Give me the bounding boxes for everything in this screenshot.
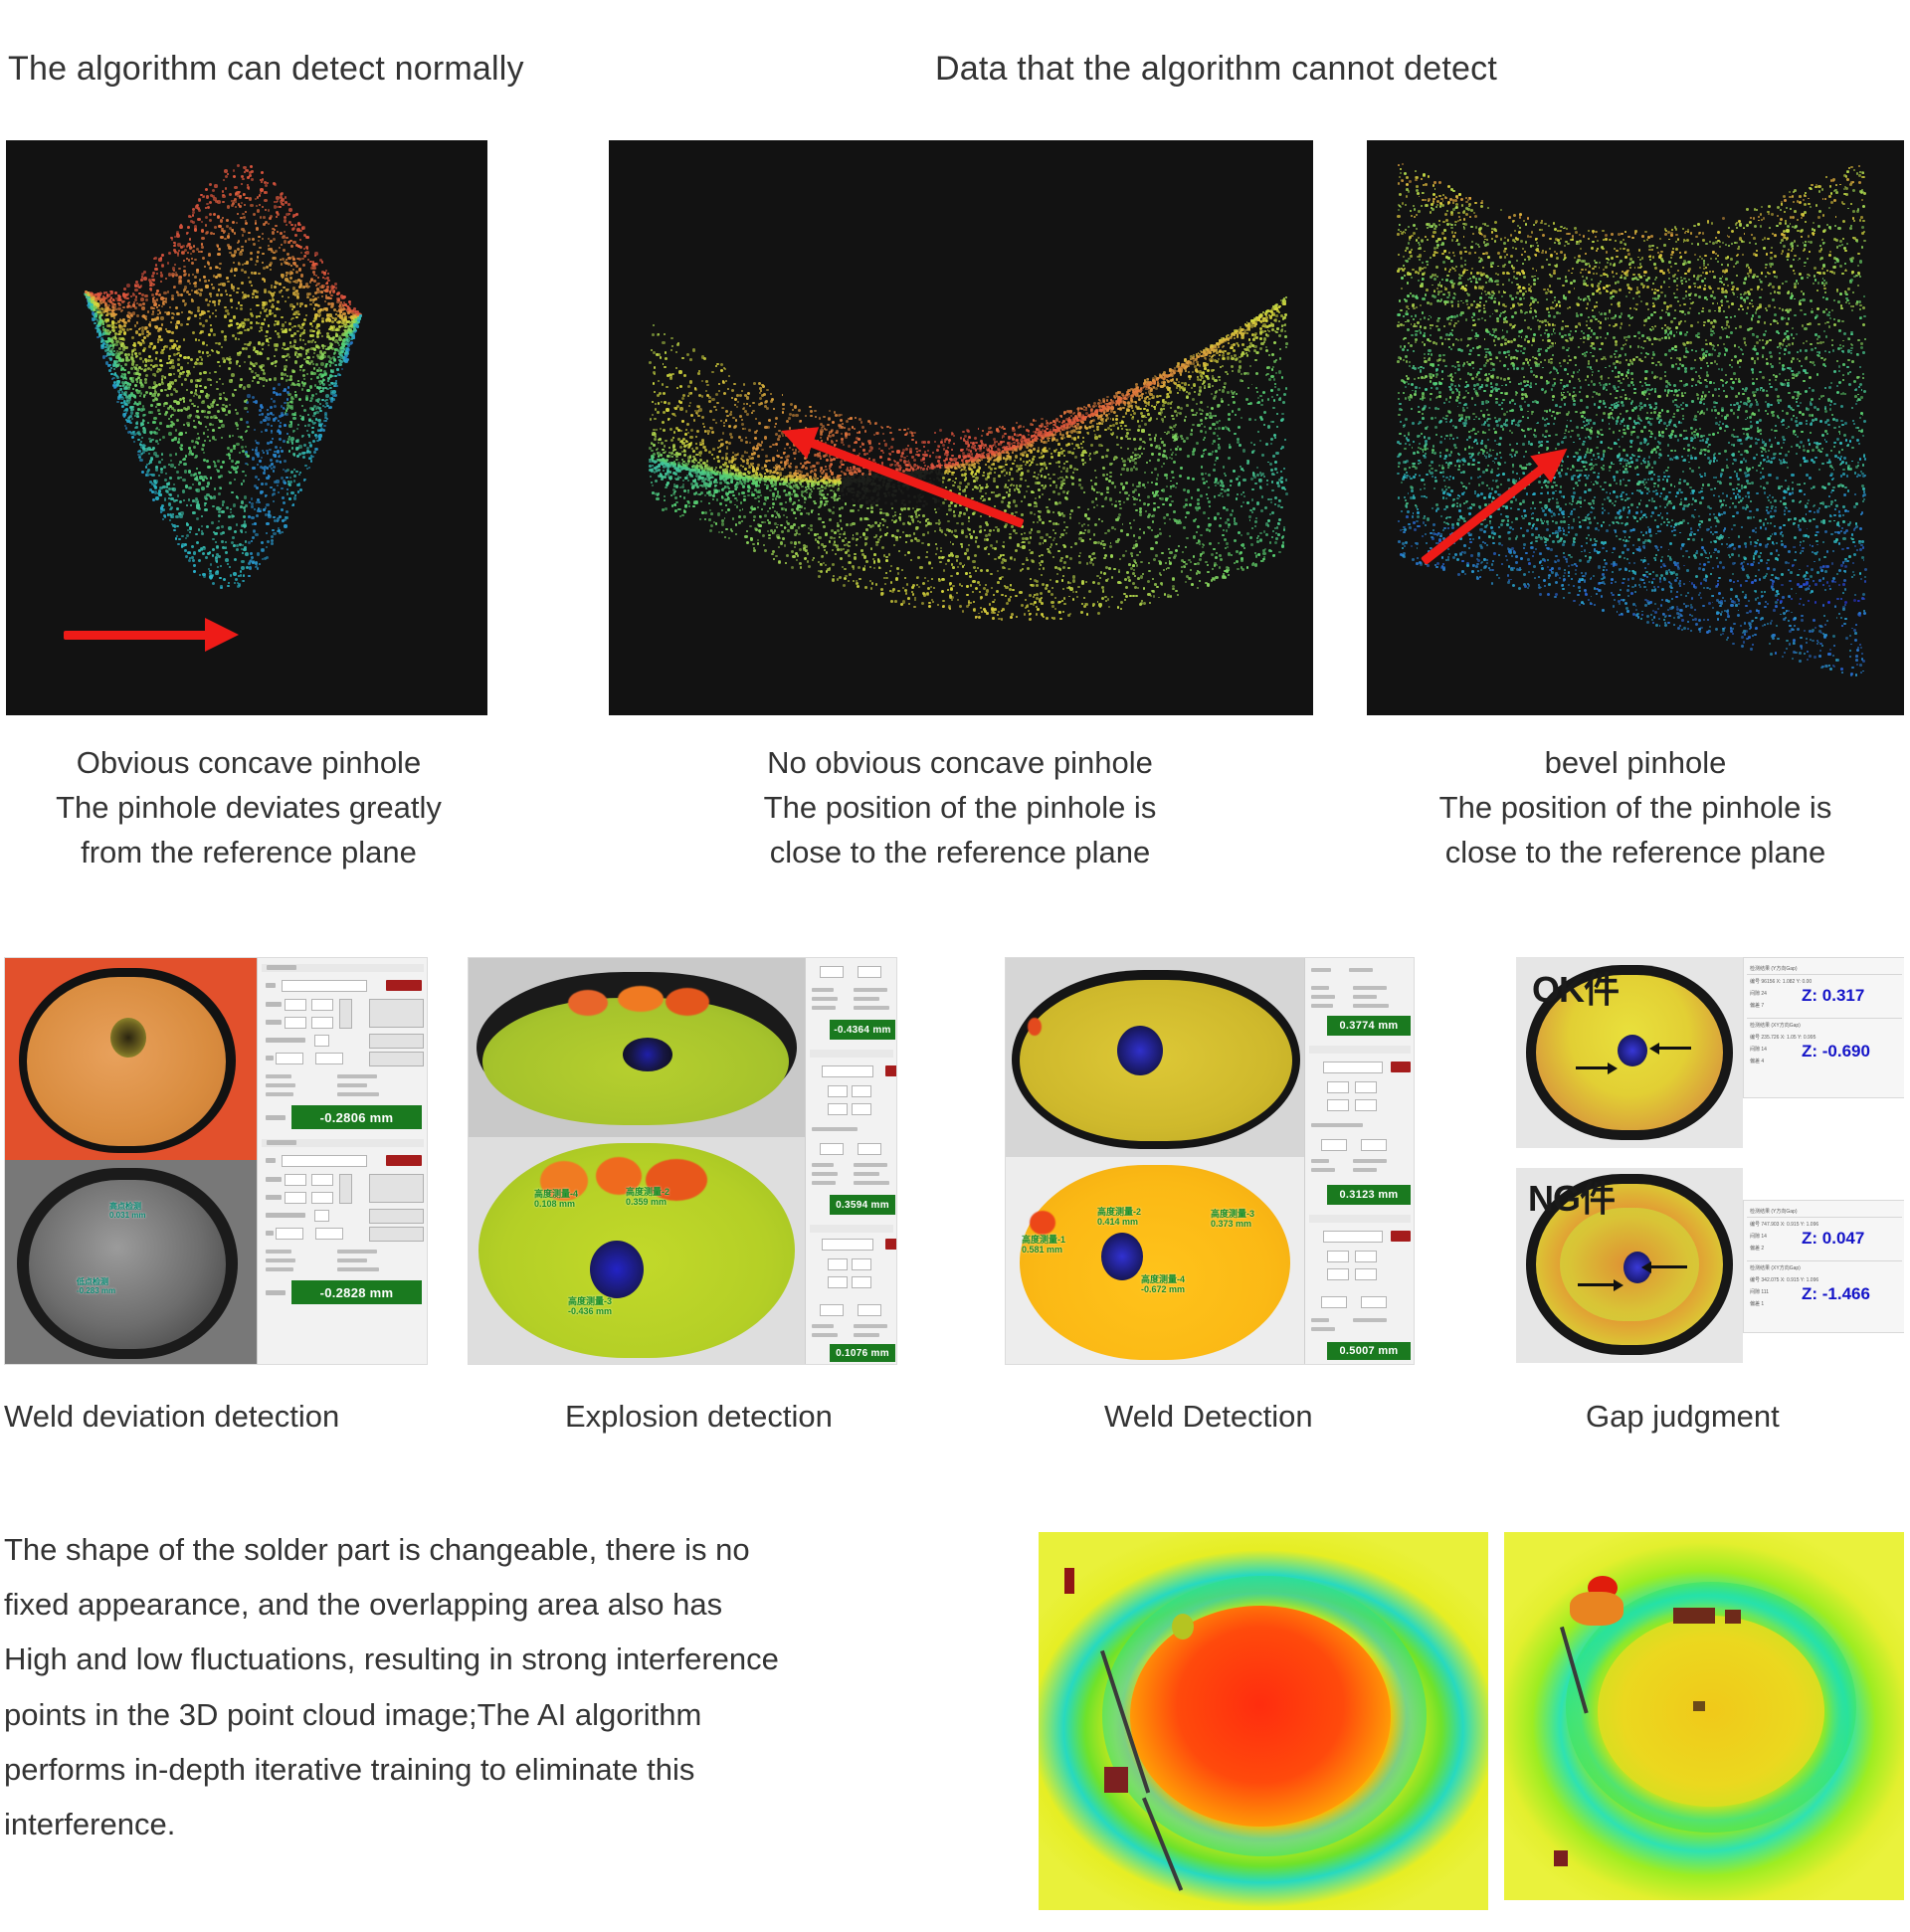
action-button-measure[interactable] — [369, 999, 424, 1028]
weld-grayscale-photo: 高点检测0.031 mm 低点检测-0.283 mm — [5, 1160, 257, 1364]
gap-result-label-ok: OK件 — [1532, 961, 1619, 1013]
status-badge-ng[interactable] — [885, 1065, 897, 1076]
coord-input[interactable] — [852, 1103, 871, 1115]
coord-input[interactable] — [852, 1085, 871, 1097]
coord-input[interactable] — [852, 1276, 871, 1288]
small-toggle-button[interactable] — [339, 999, 352, 1029]
coord-input[interactable] — [1327, 1268, 1349, 1280]
coord-input[interactable] — [828, 1276, 848, 1288]
overlay-measure-label: 高度测量-3-0.436 mm — [568, 1296, 612, 1317]
paragraph-line: performs in-depth iterative training to … — [4, 1742, 1009, 1797]
coord-x2-input[interactable] — [285, 1017, 306, 1029]
paragraph-line: interference. — [4, 1797, 1009, 1851]
software-side-panel-1: -0.2806 mm — [257, 958, 428, 1364]
coord-y2-input[interactable] — [311, 1017, 333, 1029]
caption-line: The position of the pinhole is — [582, 786, 1338, 831]
text-input[interactable] — [1323, 1062, 1383, 1073]
status-badge-ng[interactable] — [1391, 1062, 1411, 1072]
coord-y2-input[interactable] — [311, 1192, 333, 1204]
coord-x2-input[interactable] — [285, 1192, 306, 1204]
status-badge-ng[interactable] — [885, 1239, 897, 1250]
caption-line: from the reference plane — [0, 831, 497, 875]
coord-input[interactable] — [1355, 1251, 1377, 1262]
software-side-panel-2: -0.4364 mm 0.3594 mm — [805, 958, 897, 1364]
measurement-value: -0.4364 mm — [830, 1020, 895, 1040]
gap-judgment-ok-image: OK件 — [1516, 957, 1743, 1148]
measurement-value: 0.3123 mm — [1327, 1185, 1411, 1205]
overlay-measure-label: 低点检测-0.283 mm — [77, 1277, 115, 1295]
paragraph-line: points in the 3D point cloud image;The A… — [4, 1687, 1009, 1742]
measurement-value: 0.3774 mm — [1327, 1016, 1411, 1036]
z-value-ok-1: Z: 0.317 — [1802, 986, 1864, 1006]
status-badge-ng[interactable] — [1391, 1231, 1411, 1242]
z-value-ng-1: Z: 0.047 — [1802, 1229, 1864, 1249]
percent-input[interactable] — [314, 1210, 329, 1222]
action-button-config[interactable] — [369, 1034, 424, 1049]
percent-input[interactable] — [314, 1035, 329, 1047]
action-button-config[interactable] — [369, 1209, 424, 1224]
overlay-measure-label: 高度测量-40.108 mm — [534, 1189, 578, 1210]
bottom-paragraph: The shape of the solder part is changeab… — [4, 1522, 1009, 1851]
param-input[interactable] — [820, 1304, 844, 1316]
z-value-ok-2: Z: -0.690 — [1802, 1042, 1870, 1062]
overlay-measure-label: 高度测量-4-0.672 mm — [1141, 1274, 1185, 1295]
param-input[interactable] — [1321, 1296, 1347, 1308]
caption-line: close to the reference plane — [1363, 831, 1908, 875]
coord-input[interactable] — [852, 1258, 871, 1270]
gap-ng-readout-panel: 检测结果 (Y方向Gap) 编号 747.903 X: 0.915 Y: 1.0… — [1743, 1200, 1904, 1333]
text-input[interactable] — [1323, 1231, 1383, 1243]
action-button-save[interactable] — [369, 1052, 424, 1066]
coord-y-input[interactable] — [311, 1174, 333, 1186]
heatmap-solder-ring-red-center — [1039, 1532, 1488, 1910]
pointcloud-image-no-obvious-concave-pinhole — [609, 140, 1313, 715]
explosion-3d-render — [469, 958, 805, 1137]
weld-color-photo — [5, 958, 257, 1160]
param-input[interactable] — [1361, 1296, 1387, 1308]
param2-input[interactable] — [315, 1053, 343, 1064]
text-input[interactable] — [282, 980, 367, 992]
text-input[interactable] — [822, 1065, 873, 1077]
caption-weld-deviation-detection: Weld deviation detection — [4, 1399, 339, 1435]
param2-input[interactable] — [315, 1228, 343, 1240]
coord-input[interactable] — [828, 1085, 848, 1097]
caption-line: bevel pinhole — [1363, 741, 1908, 786]
header-left: The algorithm can detect normally — [8, 50, 524, 89]
coord-input[interactable] — [828, 1258, 848, 1270]
weld-heightmap: 高度测量-20.414 mm 高度测量-10.581 mm 高度测量-30.37… — [1006, 1157, 1304, 1364]
paragraph-line: High and low fluctuations, resulting in … — [4, 1632, 1009, 1686]
caption-pointcloud-2: No obvious concave pinhole The position … — [582, 741, 1338, 875]
caption-gap-judgment: Gap judgment — [1586, 1399, 1780, 1435]
param-input[interactable] — [820, 966, 844, 978]
status-badge-ng[interactable] — [386, 1155, 422, 1166]
app-screenshot-weld-deviation-detection: 高点检测0.031 mm 低点检测-0.283 mm — [4, 957, 428, 1365]
overlay-measure-label: 高度测量-20.359 mm — [626, 1187, 669, 1208]
coord-input[interactable] — [1327, 1081, 1349, 1093]
software-side-panel-3: 0.3774 mm 0.3123 mm — [1304, 958, 1415, 1364]
header-right: Data that the algorithm cannot detect — [935, 50, 1497, 89]
param-input[interactable] — [858, 1143, 881, 1155]
caption-line: The position of the pinhole is — [1363, 786, 1908, 831]
caption-weld-detection: Weld Detection — [1104, 1399, 1313, 1435]
text-input[interactable] — [282, 1155, 367, 1167]
app-screenshot-gap-judgment: OK件 检测结果 (Y方向Gap) 编号 96156 X: 1.082 Y: 0… — [1516, 957, 1904, 1363]
gap-result-label-ng: NG件 — [1528, 1170, 1615, 1222]
coord-input[interactable] — [1355, 1268, 1377, 1280]
measurement-value: -0.2806 mm — [291, 1105, 422, 1129]
pointcloud-image-bevel-pinhole — [1367, 140, 1904, 715]
app-screenshot-weld-detection: 高度测量-20.414 mm 高度测量-10.581 mm 高度测量-30.37… — [1005, 957, 1415, 1365]
overlay-measure-label: 高度测量-20.414 mm — [1097, 1207, 1141, 1228]
overlay-measure-label: 高度测量-30.373 mm — [1211, 1209, 1254, 1230]
caption-line: No obvious concave pinhole — [582, 741, 1338, 786]
gap-ok-readout-panel: 检测结果 (Y方向Gap) 编号 96156 X: 1.082 Y: 0.00 … — [1743, 957, 1904, 1098]
coord-input[interactable] — [1327, 1099, 1349, 1111]
caption-pointcloud-3: bevel pinhole The position of the pinhol… — [1363, 741, 1908, 875]
measurement-value: -0.2828 mm — [291, 1280, 422, 1304]
param-input[interactable] — [858, 1304, 881, 1316]
param-input[interactable] — [858, 966, 881, 978]
caption-line: close to the reference plane — [582, 831, 1338, 875]
coord-input[interactable] — [1355, 1099, 1377, 1111]
coord-x-input[interactable] — [285, 1174, 306, 1186]
status-badge-ng[interactable] — [386, 980, 422, 991]
param-input[interactable] — [1361, 1139, 1387, 1151]
coord-input[interactable] — [1355, 1081, 1377, 1093]
param1-input[interactable] — [276, 1053, 303, 1064]
action-button-measure[interactable] — [369, 1174, 424, 1203]
caption-explosion-detection: Explosion detection — [565, 1399, 833, 1435]
z-value-ng-2: Z: -1.466 — [1802, 1284, 1870, 1304]
text-input[interactable] — [822, 1239, 873, 1251]
measurement-value: 0.5007 mm — [1327, 1342, 1411, 1360]
weld-3d-render — [1006, 958, 1304, 1157]
paragraph-line: The shape of the solder part is changeab… — [4, 1522, 1009, 1577]
app-screenshot-explosion-detection: 高度测量-40.108 mm 高度测量-20.359 mm 高度测量-3-0.4… — [468, 957, 897, 1365]
measurement-value: 0.1076 mm — [830, 1344, 895, 1362]
overlay-measure-label: 高度测量-10.581 mm — [1022, 1235, 1065, 1256]
coord-input[interactable] — [828, 1103, 848, 1115]
slide-root: The algorithm can detect normally Data t… — [0, 0, 1910, 1932]
param-input[interactable] — [820, 1143, 844, 1155]
action-button-save[interactable] — [369, 1227, 424, 1242]
explosion-heightmap: 高度测量-40.108 mm 高度测量-20.359 mm 高度测量-3-0.4… — [469, 1137, 805, 1364]
caption-line: The pinhole deviates greatly — [0, 786, 497, 831]
param1-input[interactable] — [276, 1228, 303, 1240]
heatmap-solder-ring-yellow-center — [1504, 1532, 1904, 1900]
param-input[interactable] — [1321, 1139, 1347, 1151]
caption-line: Obvious concave pinhole — [0, 741, 497, 786]
overlay-measure-label: 高点检测0.031 mm — [109, 1202, 145, 1220]
coord-x-input[interactable] — [285, 999, 306, 1011]
coord-input[interactable] — [1327, 1251, 1349, 1262]
pointcloud-image-obvious-concave-pinhole — [6, 140, 487, 715]
measurement-value: 0.3594 mm — [830, 1195, 895, 1215]
small-toggle-button[interactable] — [339, 1174, 352, 1204]
paragraph-line: fixed appearance, and the overlapping ar… — [4, 1577, 1009, 1632]
caption-pointcloud-1: Obvious concave pinhole The pinhole devi… — [0, 741, 497, 875]
coord-y-input[interactable] — [311, 999, 333, 1011]
gap-judgment-ng-image: NG件 — [1516, 1168, 1743, 1363]
